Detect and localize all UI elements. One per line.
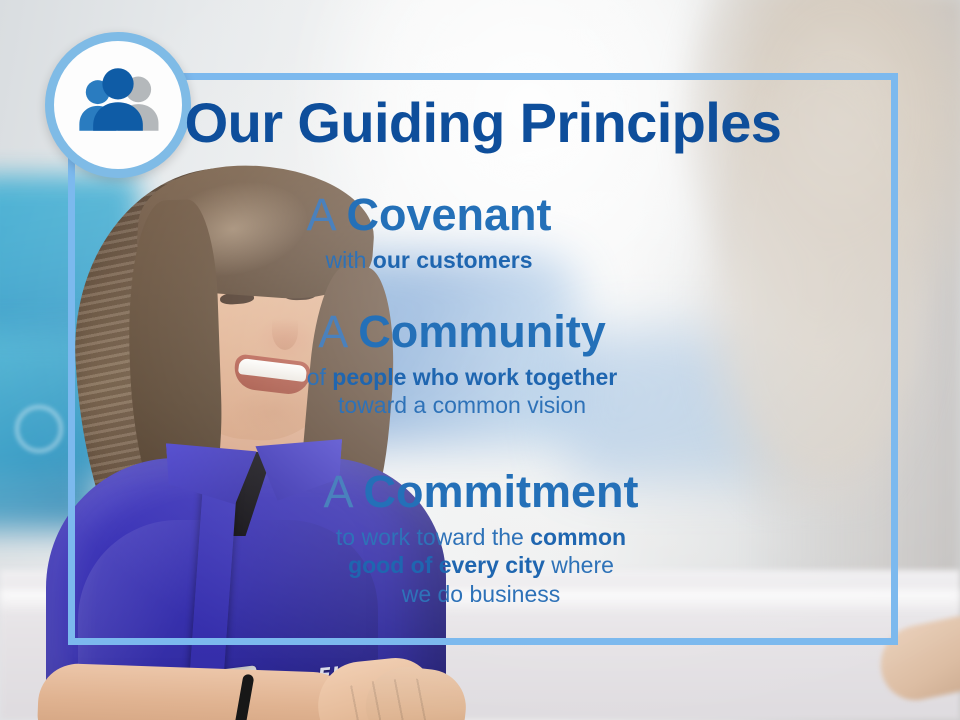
employee-nose	[272, 312, 298, 350]
photo-employee: FLOW FLOW	[18, 140, 448, 720]
promo-graphic: FLOW FLOW Our Guiding Principl	[0, 0, 960, 720]
customer-hair-strands	[730, 70, 920, 470]
people-group-badge	[45, 32, 191, 178]
employee-forearm	[37, 662, 360, 720]
photo-customer-blurred	[670, 0, 960, 510]
employee-chin	[230, 390, 314, 434]
people-group-icon	[72, 59, 164, 151]
employee-teeth	[238, 358, 307, 382]
